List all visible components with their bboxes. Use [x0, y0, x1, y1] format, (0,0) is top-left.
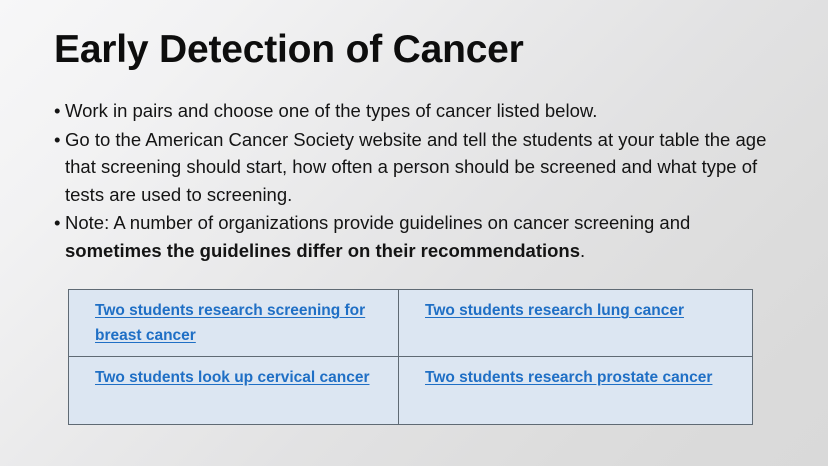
bullet-glyph-icon: •	[54, 209, 60, 237]
bullet-item-3-text: Note: A number of organizations provide …	[65, 209, 784, 264]
body-content: • Work in pairs and choose one of the ty…	[54, 97, 784, 264]
link-cervical-cancer[interactable]: Two students look up cervical cancer	[95, 369, 370, 386]
table-row: Two students look up cervical cancer Two…	[69, 357, 753, 425]
bullet-item-1: • Work in pairs and choose one of the ty…	[54, 97, 784, 125]
link-breast-cancer[interactable]: Two students research screening for brea…	[95, 302, 365, 344]
research-assignment-table: Two students research screening for brea…	[68, 289, 753, 425]
bullet-glyph-icon: •	[54, 126, 60, 154]
table-cell-breast[interactable]: Two students research screening for brea…	[69, 290, 399, 357]
bullet-item-3-lead: Note: A number of organizations provide …	[65, 212, 690, 233]
bullet-item-1-text: Work in pairs and choose one of the type…	[65, 97, 784, 125]
page-title: Early Detection of Cancer	[54, 27, 524, 73]
bullet-item-3: • Note: A number of organizations provid…	[54, 209, 784, 264]
bullet-glyph-icon: •	[54, 97, 60, 125]
slide-canvas: Early Detection of Cancer • Work in pair…	[0, 0, 828, 466]
link-prostate-cancer[interactable]: Two students research prostate cancer	[425, 369, 712, 386]
table-cell-lung[interactable]: Two students research lung cancer	[399, 290, 753, 357]
table-row: Two students research screening for brea…	[69, 290, 753, 357]
bullet-item-2: • Go to the American Cancer Society webs…	[54, 126, 784, 209]
bullet-item-3-emphasis: sometimes the guidelines differ on their…	[65, 240, 580, 261]
bullet-item-3-tail: .	[580, 240, 585, 261]
table-cell-cervical[interactable]: Two students look up cervical cancer	[69, 357, 399, 425]
link-lung-cancer[interactable]: Two students research lung cancer	[425, 302, 684, 319]
bullet-item-2-text: Go to the American Cancer Society websit…	[65, 126, 784, 209]
table-cell-prostate[interactable]: Two students research prostate cancer	[399, 357, 753, 425]
